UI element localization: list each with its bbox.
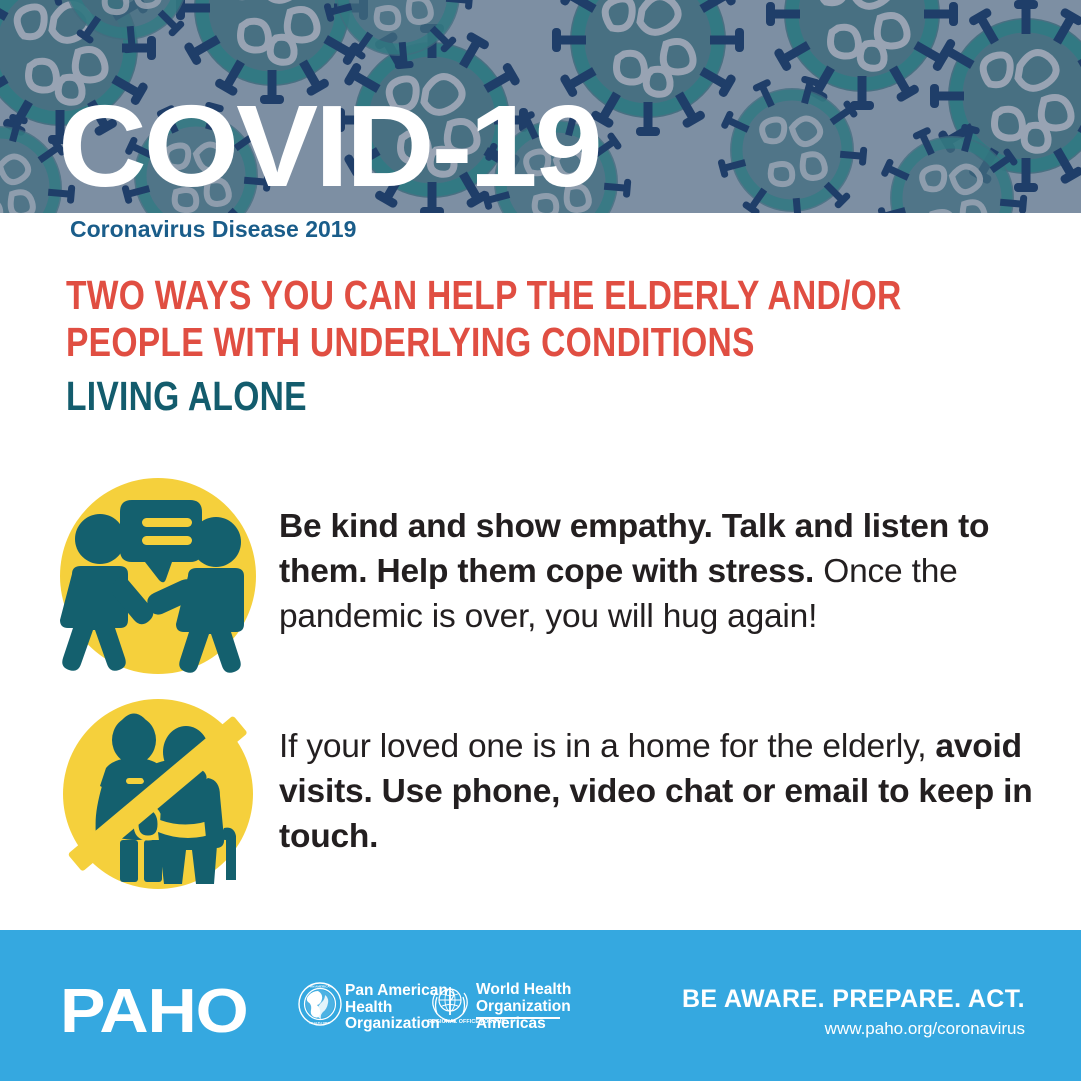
- headline-line-3: LIVING ALONE: [66, 373, 853, 420]
- page-subtitle: Coronavirus Disease 2019: [70, 216, 356, 243]
- two-people-talking-icon: [58, 476, 258, 676]
- covid19-infographic-poster: COVID-19 Coronavirus Disease 2019 TWO WA…: [0, 0, 1081, 1081]
- svg-text:HEALTH ORG.: HEALTH ORG.: [309, 1021, 330, 1025]
- headline-line-2: PEOPLE WITH UNDERLYING CONDITIONS: [66, 319, 853, 366]
- footer-url[interactable]: www.paho.org/coronavirus: [825, 1019, 1025, 1039]
- paho-wordmark: PAHO: [60, 981, 248, 1043]
- header-band: COVID-19: [0, 0, 1081, 213]
- who-region-name: Americas: [476, 1015, 546, 1033]
- who-org-line-2: Organization: [476, 999, 571, 1016]
- tip-2-text: If your loved one is in a home for the e…: [279, 724, 1039, 859]
- who-organization-name: World Health Organization: [476, 982, 571, 1015]
- tip-1-text: Be kind and show empathy. Talk and liste…: [279, 504, 1039, 639]
- svg-text:PAN AMERICAN: PAN AMERICAN: [308, 984, 332, 988]
- paho-seal-icon: PAN AMERICAN HEALTH ORG.: [298, 982, 342, 1026]
- no-visits-elderly-icon: [58, 694, 258, 894]
- headline-line-1: TWO WAYS YOU CAN HELP THE ELDERLY AND/OR: [66, 272, 853, 319]
- tip-2-regular-text: If your loved one is in a home for the e…: [279, 728, 935, 765]
- who-org-line-1: World Health: [476, 982, 571, 999]
- footer-tagline: BE AWARE. PREPARE. ACT.: [682, 985, 1025, 1014]
- page-title: COVID-19: [58, 96, 600, 196]
- headline-block: TWO WAYS YOU CAN HELP THE ELDERLY AND/OR…: [66, 272, 1026, 420]
